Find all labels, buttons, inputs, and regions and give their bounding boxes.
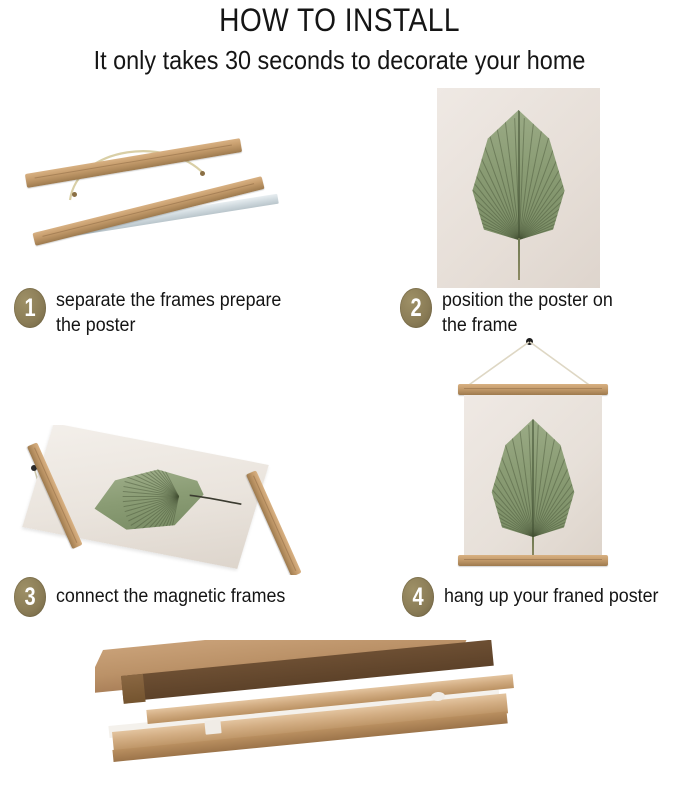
step-1-badge: 1 (10, 288, 50, 328)
step-2-line-2: the frame (442, 313, 613, 338)
step-3-illustration (8, 425, 308, 575)
wood-grain-line (464, 388, 602, 389)
step-4-caption: 4 hang up your franed poster (398, 577, 679, 617)
step-2-text: position the poster on the frame (442, 288, 613, 338)
step-1-illustration (8, 128, 308, 273)
step-1-line-2: the poster (56, 313, 281, 338)
step-2-badge: 2 (396, 288, 436, 328)
step-2-caption: 2 position the poster on the frame (396, 288, 676, 338)
step-1-text: separate the frames prepare the poster (56, 288, 281, 338)
page-subtitle: It only takes 30 seconds to decorate you… (34, 44, 645, 76)
step-2-poster-photo (437, 88, 600, 288)
step-1-caption: 1 separate the frames prepare the poster (10, 288, 330, 338)
step-4-line-1: hang up your franed poster (444, 577, 658, 617)
palm-leaf-graphic (471, 110, 567, 240)
step-3-badge: 3 (10, 577, 50, 617)
page-title: HOW TO INSTALL (41, 2, 639, 38)
leaf-ray (459, 452, 533, 537)
hung-poster-sheet (464, 395, 602, 555)
wood-grain-line (464, 559, 602, 560)
step-4-badge: 4 (398, 577, 438, 617)
leaf-body (471, 110, 567, 240)
leaf-stem (518, 238, 520, 280)
palm-leaf-graphic (490, 419, 576, 537)
rail-clip (204, 719, 221, 734)
step-2-line-1: position the poster on (442, 288, 613, 313)
frame-rail-bottom (458, 555, 608, 566)
leaf-midrib (532, 419, 534, 537)
step-4-text: hang up your franed poster (444, 577, 658, 617)
cord-peg (72, 192, 77, 197)
step-3-caption: 3 connect the magnetic frames (10, 577, 340, 617)
step-4-illustration (440, 338, 625, 573)
leaf-midrib (518, 110, 520, 240)
leaf-body (490, 419, 576, 537)
step-3-text: connect the magnetic frames (56, 577, 285, 617)
step-1-line-1: separate the frames prepare (56, 288, 281, 313)
step-number-badge: 2 (400, 288, 432, 328)
frame-rail-top (458, 384, 608, 395)
cord-peg (200, 171, 205, 176)
step-number-badge: 1 (14, 288, 46, 328)
package-illustration (95, 640, 575, 785)
header: HOW TO INSTALL It only takes 30 seconds … (0, 0, 679, 76)
step-number-badge: 4 (402, 577, 434, 617)
kraft-box-side (121, 674, 146, 704)
step-number-badge: 3 (14, 577, 46, 617)
step-3-line-1: connect the magnetic frames (56, 577, 285, 617)
